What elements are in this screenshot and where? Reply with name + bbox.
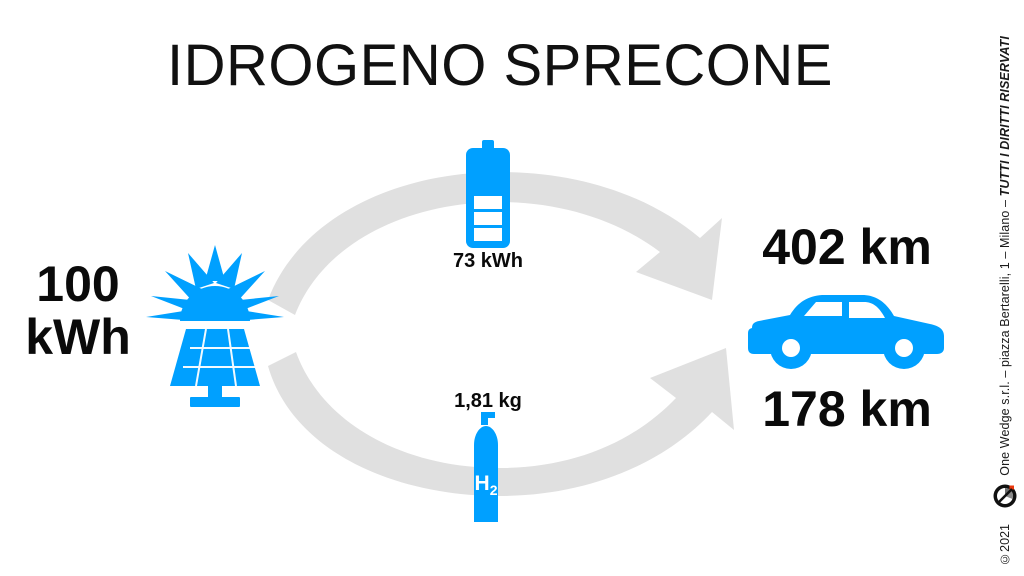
credit-rights: TUTTI I DIRITTI RISERVATI — [998, 36, 1012, 196]
source-energy-line2: kWh — [8, 311, 148, 364]
car-icon — [738, 288, 954, 370]
result-battery-range: 402 km — [722, 218, 972, 276]
infographic-canvas: IDROGENO SPRECONE 100 kWh — [0, 0, 1024, 576]
hydrogen-mass-label: 1,81 kg — [418, 390, 558, 413]
battery-icon — [464, 140, 512, 248]
battery-capacity-label: 73 kWh — [418, 250, 558, 273]
credit-text: One Wedge s.r.l. – piazza Bertarelli, 1 … — [999, 36, 1012, 476]
gas-cylinder-icon: H2 — [462, 412, 510, 522]
solar-panel-icon — [140, 243, 290, 388]
solar-panel-stand-icon — [140, 385, 290, 409]
credit-company: One Wedge s.r.l. – piazza Bertarelli, 1 … — [998, 196, 1012, 475]
source-energy-value: 100 kWh — [8, 258, 148, 364]
source-energy-line1: 100 — [8, 258, 148, 311]
result-hydrogen-range: 178 km — [722, 380, 972, 438]
credit-sidebar: One Wedge s.r.l. – piazza Bertarelli, 1 … — [988, 0, 1022, 576]
credit-year: ©2021 — [999, 524, 1012, 566]
one-wedge-logo — [992, 483, 1018, 514]
